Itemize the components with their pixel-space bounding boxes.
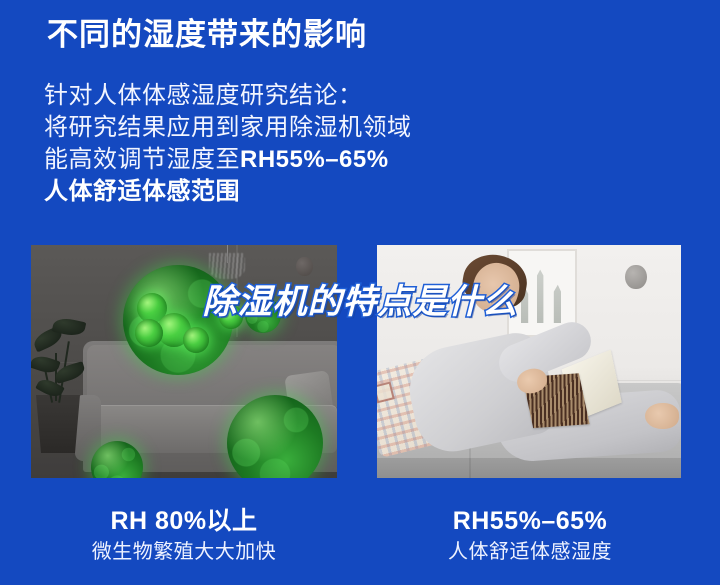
cactus-artwork-icon bbox=[521, 265, 561, 323]
pillow-motif bbox=[377, 381, 395, 403]
copy-line-3: 能高效调节湿度至RH55%–65% bbox=[44, 144, 412, 176]
light-room-scene bbox=[377, 245, 681, 478]
microbe-cluster-bottom bbox=[227, 395, 323, 478]
copy-line-3-prefix: 能高效调节湿度至 bbox=[44, 146, 240, 173]
microbe-cluster-small bbox=[91, 441, 143, 478]
plant-pot bbox=[33, 395, 83, 453]
page-title: 不同的湿度带来的影响 bbox=[47, 16, 367, 55]
poster-root: 不同的湿度带来的影响 针对人体体感湿度研究结论： 将研究结果应用到家用除湿机领域… bbox=[0, 0, 720, 585]
intro-copy-block: 针对人体体感湿度研究结论： 将研究结果应用到家用除湿机领域 能高效调节湿度至RH… bbox=[44, 80, 412, 208]
person-foot bbox=[645, 403, 679, 429]
microbe-cluster-small-top bbox=[245, 297, 281, 333]
humidity-range-highlight: RH55%–65% bbox=[240, 146, 389, 173]
wall-knob-icon bbox=[625, 265, 647, 289]
dark-room-scene bbox=[31, 245, 337, 478]
sofa-base bbox=[377, 458, 681, 478]
copy-line-1: 针对人体体感湿度研究结论： bbox=[44, 80, 412, 112]
microbe-blob bbox=[219, 305, 243, 329]
caption-right-main: RH55%–65% bbox=[377, 505, 683, 537]
microbe-blob bbox=[135, 319, 163, 347]
caption-left: RH 80%以上 微生物繁殖大大加快 bbox=[31, 505, 337, 567]
wall-knob-icon bbox=[296, 257, 313, 276]
caption-left-sub: 微生物繁殖大大加快 bbox=[31, 537, 337, 567]
photo-panel-right bbox=[377, 245, 681, 478]
copy-line-4: 人体舒适体感范围 bbox=[44, 176, 412, 208]
caption-right-sub: 人体舒适体感湿度 bbox=[377, 537, 683, 567]
caption-left-main: RH 80%以上 bbox=[31, 505, 337, 537]
microbe-blob bbox=[183, 327, 209, 353]
copy-line-2: 将研究结果应用到家用除湿机领域 bbox=[44, 112, 412, 144]
caption-right: RH55%–65% 人体舒适体感湿度 bbox=[377, 505, 683, 567]
photo-panel-left bbox=[31, 245, 337, 478]
